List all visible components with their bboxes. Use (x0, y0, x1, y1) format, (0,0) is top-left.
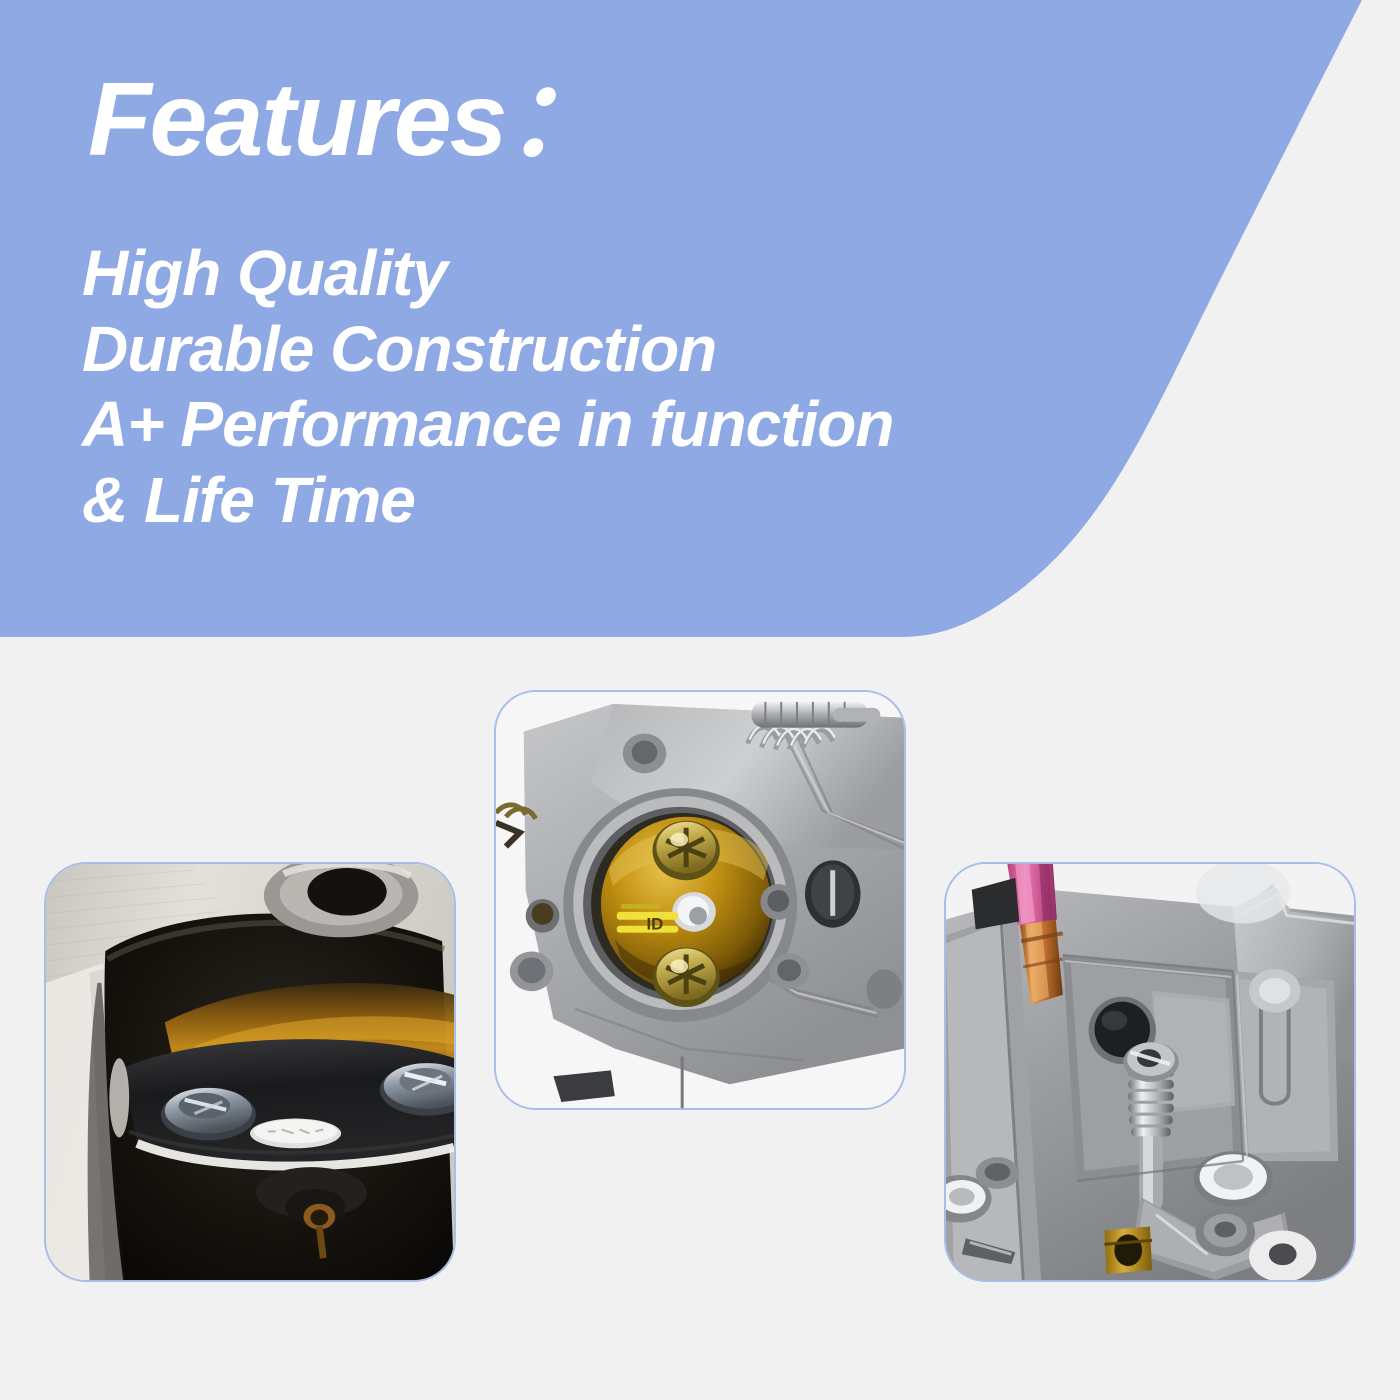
carburetor-mixture-screw-photo (946, 864, 1354, 1280)
svg-text:ID: ID (647, 915, 664, 934)
features-banner: Features： High Quality Durable Construct… (0, 0, 1400, 645)
product-photo-card-center: ID (494, 690, 906, 1110)
carburetor-throttle-plate-photo (46, 864, 454, 1280)
product-photo-card-right (944, 862, 1356, 1282)
carburetor-venturi-photo: ID (496, 692, 904, 1108)
banner-background-shape (0, 0, 1400, 645)
product-photo-card-left (44, 862, 456, 1282)
